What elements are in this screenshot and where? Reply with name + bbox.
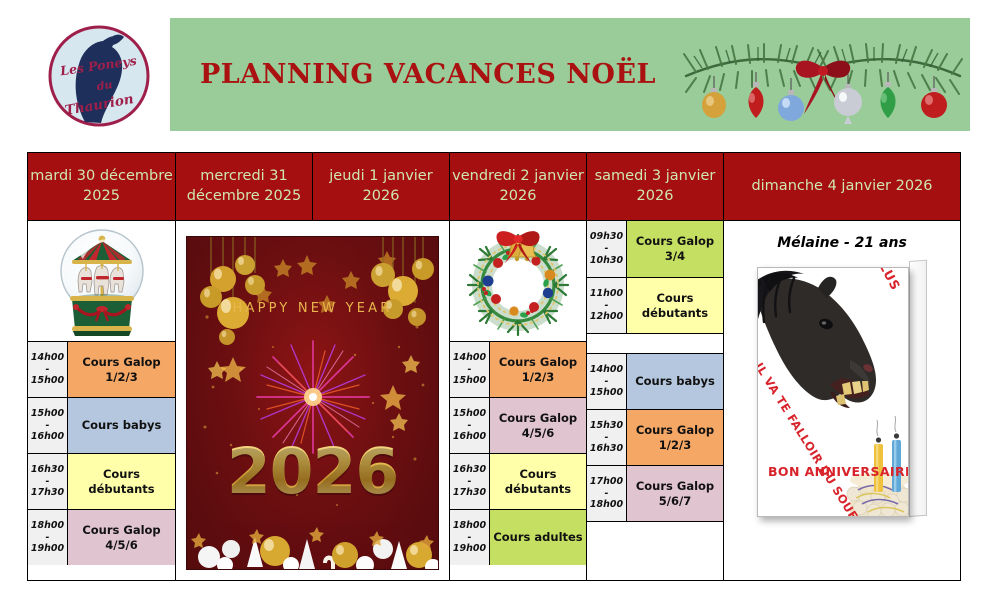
day-column-vendredi: 14h00 - 15h00 Cours Galop 1/2/3 15h00 - xyxy=(450,221,587,581)
slot-time: 11h00 - 12h00 xyxy=(587,278,627,333)
slot-row[interactable]: 14h00 - 15h00 Cours babys xyxy=(587,353,723,409)
slot-label: Cours Galop 1/2/3 xyxy=(68,342,175,397)
christmas-wreath xyxy=(450,221,586,341)
slot-time-start: 16h30 xyxy=(31,464,64,476)
card-text-line3: BON ANNIVERSAIRE xyxy=(768,464,909,479)
slot-time-start: 09h30 xyxy=(590,231,623,243)
slot-row[interactable]: 14h00 - 15h00 Cours Galop 1/2/3 xyxy=(28,341,175,397)
card-front-panel: 1 AN DE PLUS IL VA TE FALLOIR DU SOUFFLE… xyxy=(757,267,909,517)
slot-label: Cours babys xyxy=(68,398,175,453)
slot-time-end: 15h00 xyxy=(453,375,486,387)
les-poneys-du-thaurion-logo: Les Poneys du Thaurion xyxy=(45,22,153,130)
slot-time-start: 18h00 xyxy=(31,520,64,532)
slot-time-start: 14h00 xyxy=(31,352,64,364)
garland-svg xyxy=(678,34,968,129)
new-year-greeting: HAPPY NEW YEAR xyxy=(187,301,438,316)
slot-label: Cours débutants xyxy=(490,454,586,509)
poster-art xyxy=(187,237,439,570)
slot-time-end: 17h30 xyxy=(453,487,486,499)
slot-row[interactable]: 18h00 - 19h00 Cours Galop 4/5/6 xyxy=(28,509,175,565)
slot-time-start: 15h30 xyxy=(590,420,623,432)
slot-label: Cours Galop 1/2/3 xyxy=(490,342,586,397)
poster-bottom-ornaments xyxy=(187,523,439,570)
birthday-card: 1 AN DE PLUS IL VA TE FALLOIR DU SOUFFLE… xyxy=(757,261,927,521)
slot-time-end: 19h00 xyxy=(453,543,486,555)
snow-globe-svg xyxy=(50,225,154,343)
page-title: PLANNING VACANCES NOËL xyxy=(200,59,656,90)
slot-time-start: 18h00 xyxy=(453,520,486,532)
slot-label: Cours Galop 4/5/6 xyxy=(68,510,175,565)
day-column-mercredi-jeudi: HAPPY NEW YEAR 2026 xyxy=(176,221,450,581)
slot-label: Cours débutants xyxy=(627,278,723,333)
slot-time-dash: - xyxy=(605,488,609,500)
christmas-garland xyxy=(678,34,968,129)
day-header-jeudi: jeudi 1 janvier 2026 xyxy=(313,153,450,221)
slot-time-dash: - xyxy=(46,420,50,432)
slot-time-dash: - xyxy=(468,364,472,376)
slot-time: 17h00 - 18h00 xyxy=(587,466,627,521)
slot-time: 09h30 - 10h30 xyxy=(587,221,627,277)
slot-time-dash: - xyxy=(468,532,472,544)
slot-label: Cours Galop 3/4 xyxy=(627,221,723,277)
table-body-row: 14h00 - 15h00 Cours Galop 1/2/3 15h00 - xyxy=(28,221,961,581)
slot-time-dash: - xyxy=(605,243,609,255)
slot-time-end: 12h00 xyxy=(590,311,623,323)
slot-time: 14h00 - 15h00 xyxy=(587,354,627,409)
slot-row[interactable]: 11h00 - 12h00 Cours débutants xyxy=(587,277,723,333)
slot-row[interactable]: 14h00 - 15h00 Cours Galop 1/2/3 xyxy=(450,341,586,397)
slot-row[interactable]: 09h30 - 10h30 Cours Galop 3/4 xyxy=(587,221,723,277)
card-back-panel xyxy=(909,260,927,517)
snow-globe-carousel xyxy=(28,221,175,341)
slot-label: Cours Galop 1/2/3 xyxy=(627,410,723,465)
slot-gap xyxy=(587,333,723,353)
slot-row[interactable]: 15h30 - 16h30 Cours Galop 1/2/3 xyxy=(587,409,723,465)
slot-time-dash: - xyxy=(46,364,50,376)
slot-time-dash: - xyxy=(46,476,50,488)
slot-time: 14h00 - 15h00 xyxy=(450,342,490,397)
slot-empty xyxy=(587,521,723,567)
slot-row[interactable]: 17h00 - 18h00 Cours Galop 5/6/7 xyxy=(587,465,723,521)
slot-time-end: 16h30 xyxy=(590,443,623,455)
planning-page: Les Poneys du Thaurion PLANNING VACANCES… xyxy=(0,0,988,600)
slot-time-start: 17h00 xyxy=(590,476,623,488)
slot-label: Cours adultes xyxy=(490,510,586,565)
day-column-dimanche: Mélaine - 21 ans xyxy=(724,221,961,581)
table-header-row: mardi 30 décembre 2025 mercredi 31 décem… xyxy=(28,153,961,221)
slot-time: 18h00 - 19h00 xyxy=(450,510,490,565)
slot-time-dash: - xyxy=(605,300,609,312)
day-header-mardi: mardi 30 décembre 2025 xyxy=(28,153,176,221)
slot-time-start: 11h00 xyxy=(590,288,623,300)
slot-time-end: 17h30 xyxy=(31,487,64,499)
wreath-svg xyxy=(458,223,578,341)
slot-time-end: 15h00 xyxy=(31,375,64,387)
slot-row[interactable]: 15h00 - 16h00 Cours Galop 4/5/6 xyxy=(450,397,586,453)
slot-time-start: 15h00 xyxy=(453,408,486,420)
header-banner: PLANNING VACANCES NOËL xyxy=(170,18,970,131)
slot-time-end: 15h00 xyxy=(590,387,623,399)
slot-time: 15h00 - 16h00 xyxy=(28,398,68,453)
slot-row[interactable]: 16h30 - 17h30 Cours débutants xyxy=(450,453,586,509)
slot-time-end: 10h30 xyxy=(590,255,623,267)
logo-svg: Les Poneys du Thaurion xyxy=(45,22,153,130)
day-header-dimanche: dimanche 4 janvier 2026 xyxy=(724,153,961,221)
day-header-mercredi: mercredi 31 décembre 2025 xyxy=(176,153,313,221)
slot-time-end: 16h00 xyxy=(31,431,64,443)
day-header-vendredi: vendredi 2 janvier 2026 xyxy=(450,153,587,221)
slot-time-dash: - xyxy=(468,420,472,432)
slot-time: 16h30 - 17h30 xyxy=(28,454,68,509)
slot-time-start: 15h00 xyxy=(31,408,64,420)
planning-table: mardi 30 décembre 2025 mercredi 31 décem… xyxy=(27,152,961,581)
birthday-name: Mélaine - 21 ans xyxy=(724,221,960,251)
slot-time-dash: - xyxy=(605,376,609,388)
slot-time-dash: - xyxy=(605,432,609,444)
slot-time: 18h00 - 19h00 xyxy=(28,510,68,565)
day-column-mardi: 14h00 - 15h00 Cours Galop 1/2/3 15h00 - xyxy=(28,221,176,581)
slot-time-start: 16h30 xyxy=(453,464,486,476)
slot-time-start: 14h00 xyxy=(453,352,486,364)
slot-time: 15h30 - 16h30 xyxy=(587,410,627,465)
day-column-samedi: 09h30 - 10h30 Cours Galop 3/4 11h00 - xyxy=(587,221,724,581)
slot-time-start: 14h00 xyxy=(590,364,623,376)
slot-time-dash: - xyxy=(46,532,50,544)
slot-list-mardi: 14h00 - 15h00 Cours Galop 1/2/3 15h00 - xyxy=(28,341,175,565)
slot-row[interactable]: 18h00 - 19h00 Cours adultes xyxy=(450,509,586,565)
slot-label: Cours Galop 5/6/7 xyxy=(627,466,723,521)
logo-line2: du xyxy=(96,78,113,93)
slot-time: 16h30 - 17h30 xyxy=(450,454,490,509)
slot-list-samedi: 09h30 - 10h30 Cours Galop 3/4 11h00 - xyxy=(587,221,723,567)
day-header-samedi: samedi 3 janvier 2026 xyxy=(587,153,724,221)
slot-time-end: 19h00 xyxy=(31,543,64,555)
slot-time: 15h00 - 16h00 xyxy=(450,398,490,453)
slot-time: 14h00 - 15h00 xyxy=(28,342,68,397)
slot-time-end: 16h00 xyxy=(453,431,486,443)
slot-time-dash: - xyxy=(468,476,472,488)
slot-label: Cours babys xyxy=(627,354,723,409)
slot-time-end: 18h00 xyxy=(590,499,623,511)
new-year-year: 2026 xyxy=(187,435,438,508)
slot-list-vendredi: 14h00 - 15h00 Cours Galop 1/2/3 15h00 - xyxy=(450,341,586,565)
slot-label: Cours débutants xyxy=(68,454,175,509)
slot-row[interactable]: 16h30 - 17h30 Cours débutants xyxy=(28,453,175,509)
happy-new-year-2026-poster: HAPPY NEW YEAR 2026 xyxy=(186,236,439,570)
slot-row[interactable]: 15h00 - 16h00 Cours babys xyxy=(28,397,175,453)
slot-label: Cours Galop 4/5/6 xyxy=(490,398,586,453)
